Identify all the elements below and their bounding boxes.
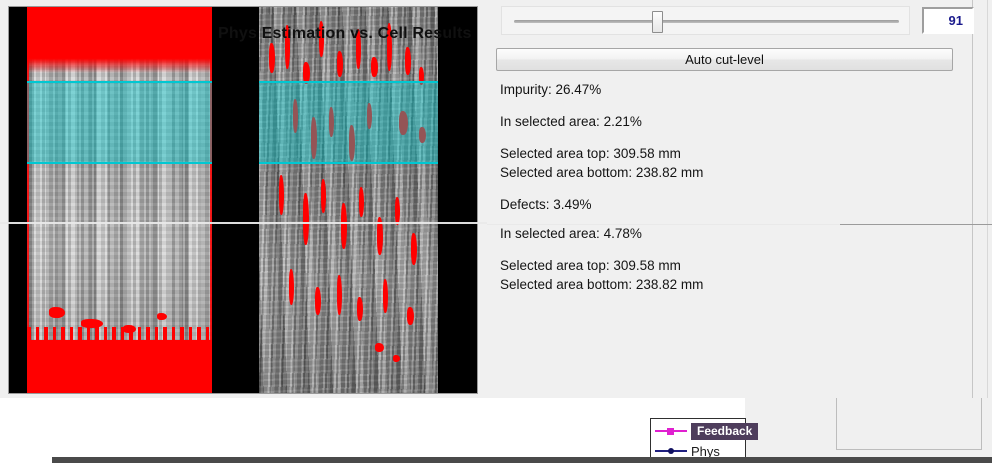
defect-streak xyxy=(383,279,388,313)
defect-streak xyxy=(395,197,400,225)
defect-streak xyxy=(407,307,414,325)
impurity-overlay-top xyxy=(27,7,212,73)
slider-track[interactable] xyxy=(514,20,899,23)
selection-band-right[interactable] xyxy=(259,81,438,164)
defect-streak xyxy=(357,297,363,321)
defect-streak xyxy=(321,179,326,213)
defect-streak xyxy=(337,275,342,315)
defect-streak xyxy=(315,287,321,315)
cut-level-slider-row: 91 xyxy=(501,6,958,35)
impurity-blob xyxy=(49,307,65,318)
slider-thumb[interactable] xyxy=(652,11,663,33)
impurity-blob xyxy=(157,313,167,320)
impurity-selected-area-top: Selected area top: 309.58 mm xyxy=(500,146,970,161)
defect-streak xyxy=(289,269,294,305)
defect-streak xyxy=(405,47,411,75)
defects-selected-area-bottom: Selected area bottom: 238.82 mm xyxy=(500,277,970,292)
impurity-total: Impurity: 26.47% xyxy=(500,82,970,97)
cut-level-slider[interactable] xyxy=(501,6,910,35)
defect-streak xyxy=(371,57,378,77)
chart-title: Phys Estimation vs. Cell Results xyxy=(218,25,472,43)
panel-border-line-outer xyxy=(987,0,988,398)
cut-level-value[interactable]: 91 xyxy=(922,7,974,34)
readout-panel: Impurity: 26.47% In selected area: 2.21%… xyxy=(500,82,970,292)
defect-spot xyxy=(375,343,384,352)
impurity-blob xyxy=(123,325,136,333)
defect-streak xyxy=(269,43,275,73)
auto-cut-level-button[interactable]: Auto cut-level xyxy=(496,48,953,71)
impurity-edge-left xyxy=(27,7,29,393)
application-window: 91 Auto cut-level Impurity: 26.47% In se… xyxy=(0,0,992,463)
taskbar-strip xyxy=(52,457,992,463)
impurity-overlay-bottom xyxy=(27,340,212,393)
defect-streak xyxy=(359,187,364,217)
image-viewer-area xyxy=(0,0,487,398)
image-frame xyxy=(8,6,478,394)
selection-band-left[interactable] xyxy=(27,81,212,164)
chart-canvas[interactable] xyxy=(0,398,745,463)
defect-streak xyxy=(337,51,343,77)
impurity-blob xyxy=(81,319,103,328)
defect-streak xyxy=(411,233,417,265)
legend-marker-feedback xyxy=(655,426,687,436)
defects-separator-left xyxy=(487,224,840,225)
impurity-edge-right xyxy=(210,7,212,393)
impurity-selected-area-bottom: Selected area bottom: 238.82 mm xyxy=(500,165,970,180)
bottom-right-frame xyxy=(836,398,982,450)
legend-item-feedback[interactable]: Feedback xyxy=(655,421,758,441)
density-map-image[interactable] xyxy=(27,7,212,393)
defects-total: Defects: 3.49% xyxy=(500,197,970,212)
legend-marker-phys xyxy=(655,446,687,456)
upper-region: 91 Auto cut-level Impurity: 26.47% In se… xyxy=(0,0,992,398)
defects-separator xyxy=(840,224,992,225)
impurity-in-selected-area: In selected area: 2.21% xyxy=(500,114,970,129)
defect-spot xyxy=(393,355,400,362)
micrograph-defect-image[interactable] xyxy=(259,7,438,393)
defects-in-selected-area: In selected area: 4.78% xyxy=(500,226,970,241)
defect-streak xyxy=(279,175,284,215)
panel-border-line xyxy=(972,0,973,398)
legend-label-feedback: Feedback xyxy=(691,423,758,440)
defects-selected-area-top: Selected area top: 309.58 mm xyxy=(500,258,970,273)
defect-streak xyxy=(303,193,309,245)
defect-streak xyxy=(341,203,347,249)
